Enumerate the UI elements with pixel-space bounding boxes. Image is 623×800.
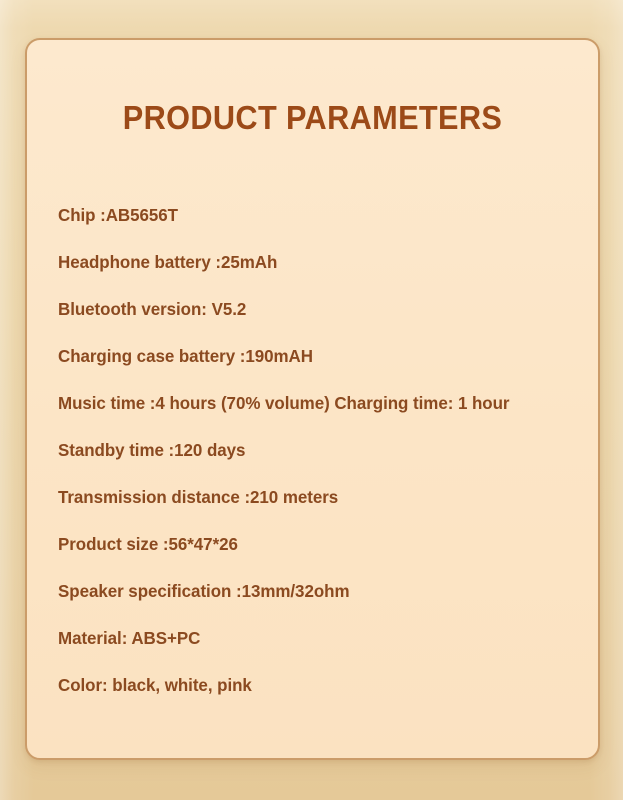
page-title: PRODUCT PARAMETERS	[47, 101, 578, 134]
parameter-row: Headphone battery :25mAh	[58, 239, 580, 286]
product-parameters-card: PRODUCT PARAMETERS Chip :AB5656THeadphon…	[25, 38, 600, 760]
parameter-text: Standby time :120 days	[58, 440, 245, 460]
parameter-text: Bluetooth version: V5.2	[58, 299, 246, 319]
parameter-row: Music time :4 hours (70% volume) Chargin…	[58, 380, 580, 427]
parameter-row: Speaker specification :13mm/32ohm	[58, 568, 580, 615]
parameter-list: Chip :AB5656THeadphone battery :25mAhBlu…	[58, 192, 580, 709]
parameter-row: Standby time :120 days	[58, 427, 580, 474]
product-parameters-page: PRODUCT PARAMETERS Chip :AB5656THeadphon…	[0, 0, 623, 800]
parameter-row: Transmission distance :210 meters	[58, 474, 580, 521]
parameter-text: Music time :4 hours (70% volume) Chargin…	[58, 393, 509, 413]
parameter-text: Material: ABS+PC	[58, 628, 200, 648]
parameter-text: Chip :AB5656T	[58, 205, 178, 225]
parameter-text: Product size :56*47*26	[58, 534, 238, 554]
parameter-row: Chip :AB5656T	[58, 192, 580, 239]
parameter-row: Product size :56*47*26	[58, 521, 580, 568]
parameter-text: Charging case battery :190mAH	[58, 346, 313, 366]
parameter-text: Headphone battery :25mAh	[58, 252, 277, 272]
parameter-row: Material: ABS+PC	[58, 615, 580, 662]
parameter-row: Charging case battery :190mAH	[58, 333, 580, 380]
parameter-text: Color: black, white, pink	[58, 675, 252, 695]
parameter-row: Color: black, white, pink	[58, 662, 580, 709]
parameter-text: Transmission distance :210 meters	[58, 487, 338, 507]
parameter-text: Speaker specification :13mm/32ohm	[58, 581, 349, 601]
parameter-row: Bluetooth version: V5.2	[58, 286, 580, 333]
